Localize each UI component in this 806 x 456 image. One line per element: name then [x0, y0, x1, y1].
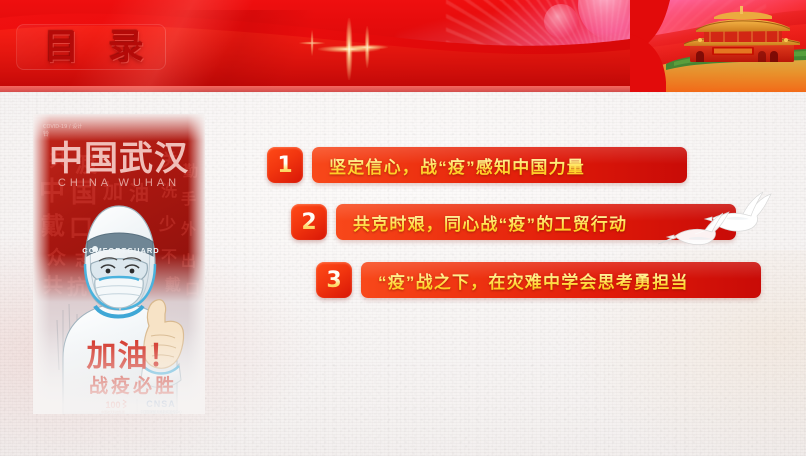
- svg-text:CNSA: CNSA: [146, 399, 176, 409]
- toc-item-2[interactable]: 2 共克时艰，同心战“疫”的工贸行动: [291, 203, 736, 241]
- toc-label-2: 共克时艰，同心战“疫”的工贸行动: [353, 210, 627, 235]
- toc-bar-2[interactable]: 共克时艰，同心战“疫”的工贸行动: [336, 204, 736, 240]
- svg-text:戴: 戴: [41, 212, 65, 240]
- toc-number-3: 3: [326, 268, 341, 293]
- svg-text:100: 100: [105, 400, 120, 410]
- svg-text:手: 手: [181, 190, 196, 208]
- svg-text:少: 少: [158, 215, 176, 235]
- slide-canvas: 目 录: [0, 0, 806, 456]
- svg-text:外: 外: [180, 220, 196, 238]
- toc-number-1: 1: [277, 153, 292, 178]
- toc-label-1: 坚定信心，战“疫”感知中国力量: [329, 153, 585, 178]
- tiananmen-artwork: [630, 0, 806, 92]
- header-banner: 目 录: [0, 0, 806, 92]
- svg-text:加油！: 加油！: [87, 339, 180, 374]
- svg-text:战疫必胜: 战疫必胜: [89, 374, 177, 397]
- svg-text:中国国家航天局新闻宣传中心: 中国国家航天局新闻宣传中心: [140, 409, 182, 414]
- svg-text:铃: 铃: [43, 130, 49, 138]
- toc-bar-3[interactable]: “疫”战之下，在灾难中学会思考勇担当: [361, 262, 761, 298]
- toc-item-1[interactable]: 1 坚定信心，战“疫”感知中国力量: [267, 146, 687, 184]
- tiananmen-gate-icon: [630, 0, 806, 92]
- toc-label-3: “疫”战之下，在灾难中学会思考勇担当: [378, 268, 689, 293]
- svg-text:中国航天科技集团: 中国航天科技集团: [101, 409, 125, 414]
- svg-text:CHINA WUHAN: CHINA WUHAN: [58, 177, 180, 189]
- page-title: 目 录: [44, 24, 244, 72]
- wuhan-poster: 共 渡 关 勤 中 国 加 油 洗 手 戴 口 罩 少 外 众 志: [33, 114, 205, 414]
- svg-text:中国武汉: 中国武汉: [49, 139, 189, 179]
- toc-bar-1[interactable]: 坚定信心，战“疫”感知中国力量: [312, 147, 687, 183]
- toc-number-badge-3: 3: [316, 262, 352, 298]
- toc-number-badge-2: 2: [291, 204, 327, 240]
- toc-item-3[interactable]: 3 “疫”战之下，在灾难中学会思考勇担当: [316, 261, 761, 299]
- svg-text:COVID-19 / 设计: COVID-19 / 设计: [43, 123, 82, 130]
- toc-number-badge-1: 1: [267, 147, 303, 183]
- poster-artwork: 共 渡 关 勤 中 国 加 油 洗 手 戴 口 罩 少 外 众 志: [33, 114, 205, 414]
- toc-number-2: 2: [301, 210, 316, 235]
